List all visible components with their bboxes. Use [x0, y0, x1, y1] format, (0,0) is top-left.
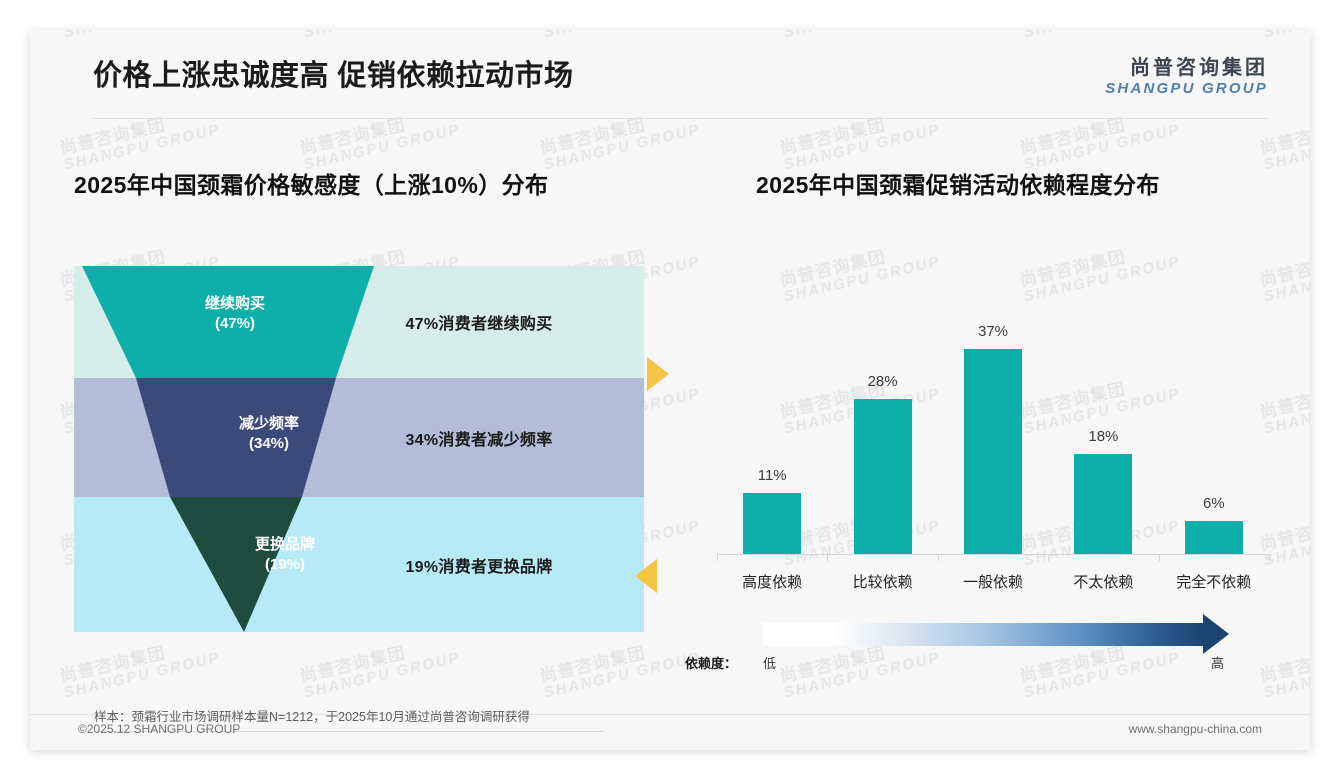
bar-4 [1074, 454, 1132, 554]
funnel-label-3: 更换品牌 (19%) [220, 535, 350, 576]
bar-category-label: 高度依赖 [742, 571, 802, 592]
legend-label: 依赖度： [685, 653, 737, 672]
funnel-label-1: 继续购买 (47%) [170, 294, 300, 335]
watermark-tile: 尚普咨询集团SHANGPU GROUP [538, 632, 702, 701]
axis-tick [1159, 555, 1160, 561]
funnel-label-2-name: 减少频率 [204, 414, 334, 434]
logo-chinese: 尚普咨询集团 [1105, 56, 1268, 80]
bar-5 [1185, 521, 1243, 554]
bar-chart-axis [717, 554, 1269, 555]
gradient-arrow-icon [1203, 614, 1229, 654]
header-divider [93, 118, 1268, 119]
bar-value-label: 6% [1203, 495, 1225, 512]
left-chart-title: 2025年中国颈霜价格敏感度（上涨10%）分布 [74, 166, 548, 200]
axis-tick [717, 555, 718, 561]
axis-tick [1269, 555, 1270, 561]
legend-low-label: 低 [763, 653, 776, 672]
dependency-gradient-legend: 依赖度： 低 高 [685, 618, 1275, 674]
website-link[interactable]: www.shangpu-china.com [1129, 722, 1262, 736]
bar-3 [964, 349, 1022, 554]
funnel-label-1-name: 继续购买 [170, 294, 300, 314]
funnel-label-2: 减少频率 (34%) [204, 414, 334, 455]
slide-canvas: 尚普咨询集团SHANGPU GROUP尚普咨询集团SHANGPU GROUP尚普… [30, 30, 1310, 750]
bar-category-label: 完全不依赖 [1176, 571, 1251, 592]
right-chart-title: 2025年中国颈霜促销活动依赖程度分布 [756, 166, 1160, 200]
funnel-shape [74, 236, 684, 636]
watermark-tile: 尚普咨询集团SHANGPU GROUP [58, 632, 222, 701]
slide-header: 价格上涨忠诚度高 促销依赖拉动市场 尚普咨询集团 SHANGPU GROUP [30, 30, 1310, 119]
bar-column [854, 399, 912, 554]
bar-column [743, 493, 801, 554]
bar-value-label: 28% [868, 373, 898, 390]
bar-chart: 11%高度依赖28%比较依赖37%一般依赖18%不太依赖6%完全不依赖 [685, 290, 1275, 610]
axis-tick [938, 555, 939, 561]
gradient-bar [763, 623, 1203, 646]
axis-tick [1048, 555, 1049, 561]
triangle-right-icon [647, 357, 669, 391]
bar-value-label: 37% [978, 323, 1008, 340]
funnel-label-3-name: 更换品牌 [220, 535, 350, 555]
page-title: 价格上涨忠诚度高 促销依赖拉动市场 [93, 52, 574, 94]
brand-logo: 尚普咨询集团 SHANGPU GROUP [1105, 56, 1268, 99]
copyright-text: ©2025.12 SHANGPU GROUP [78, 722, 240, 736]
logo-english: SHANGPU GROUP [1105, 80, 1268, 99]
axis-tick [827, 555, 828, 561]
bar-column [1074, 454, 1132, 554]
funnel-label-2-value: (34%) [204, 434, 334, 454]
slide-footer: ©2025.12 SHANGPU GROUP www.shangpu-china… [30, 714, 1310, 750]
bar-category-label: 不太依赖 [1073, 571, 1133, 592]
bar-column [1185, 521, 1243, 554]
bar-1 [743, 493, 801, 554]
bar-value-label: 18% [1088, 428, 1118, 445]
bar-value-label: 11% [758, 467, 787, 484]
funnel-label-1-value: (47%) [170, 314, 300, 334]
triangle-left-icon [635, 559, 657, 593]
bar-2 [854, 399, 912, 554]
funnel-chart: 47%消费者继续购买 34%消费者减少频率 19%消费者更换品牌 继续购买 (4… [74, 236, 684, 636]
watermark-tile: 尚普咨询集团SHANGPU GROUP [298, 632, 462, 701]
legend-high-label: 高 [1211, 653, 1224, 672]
bar-category-label: 一般依赖 [963, 571, 1023, 592]
funnel-label-3-value: (19%) [220, 555, 350, 575]
bar-category-label: 比较依赖 [853, 571, 913, 592]
bar-column [964, 349, 1022, 554]
